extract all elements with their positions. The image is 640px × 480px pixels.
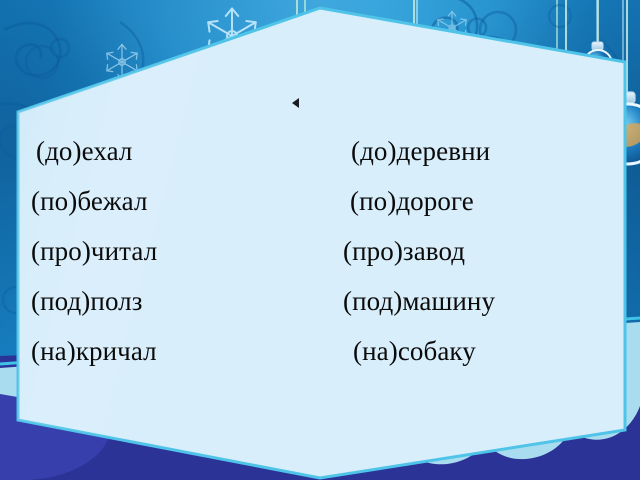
preposition-noun-cell: (на)собаку <box>318 338 640 365</box>
prefix-verb-cell: (по)бежал <box>0 188 349 215</box>
prefix-verb-cell: (до)ехал <box>0 138 354 165</box>
preposition-noun-cell: (до)деревни <box>318 138 640 165</box>
slide-canvas: (до)ехал (до)деревни (по)бежал (по)дорог… <box>0 0 640 480</box>
left-triangle-mark <box>292 98 299 108</box>
prefix-verb-cell: (на)кричал <box>0 338 349 365</box>
prefix-verb-cell: (про)читал <box>0 238 349 265</box>
word-pair-row: (про)читал (про)завод <box>0 226 640 276</box>
word-pair-row: (на)кричал (на)собаку <box>0 326 640 376</box>
prefix-verb-cell: (под)полз <box>0 288 349 315</box>
word-pair-row: (по)бежал (по)дороге <box>0 176 640 226</box>
word-pair-row: (до)ехал (до)деревни <box>0 126 640 176</box>
word-pair-row: (под)полз (под)машину <box>0 276 640 326</box>
preposition-noun-cell: (про)завод <box>318 238 640 265</box>
preposition-noun-cell: (по)дороге <box>318 188 640 215</box>
word-pair-list: (до)ехал (до)деревни (по)бежал (по)дорог… <box>0 126 640 376</box>
preposition-noun-cell: (под)машину <box>318 288 640 315</box>
